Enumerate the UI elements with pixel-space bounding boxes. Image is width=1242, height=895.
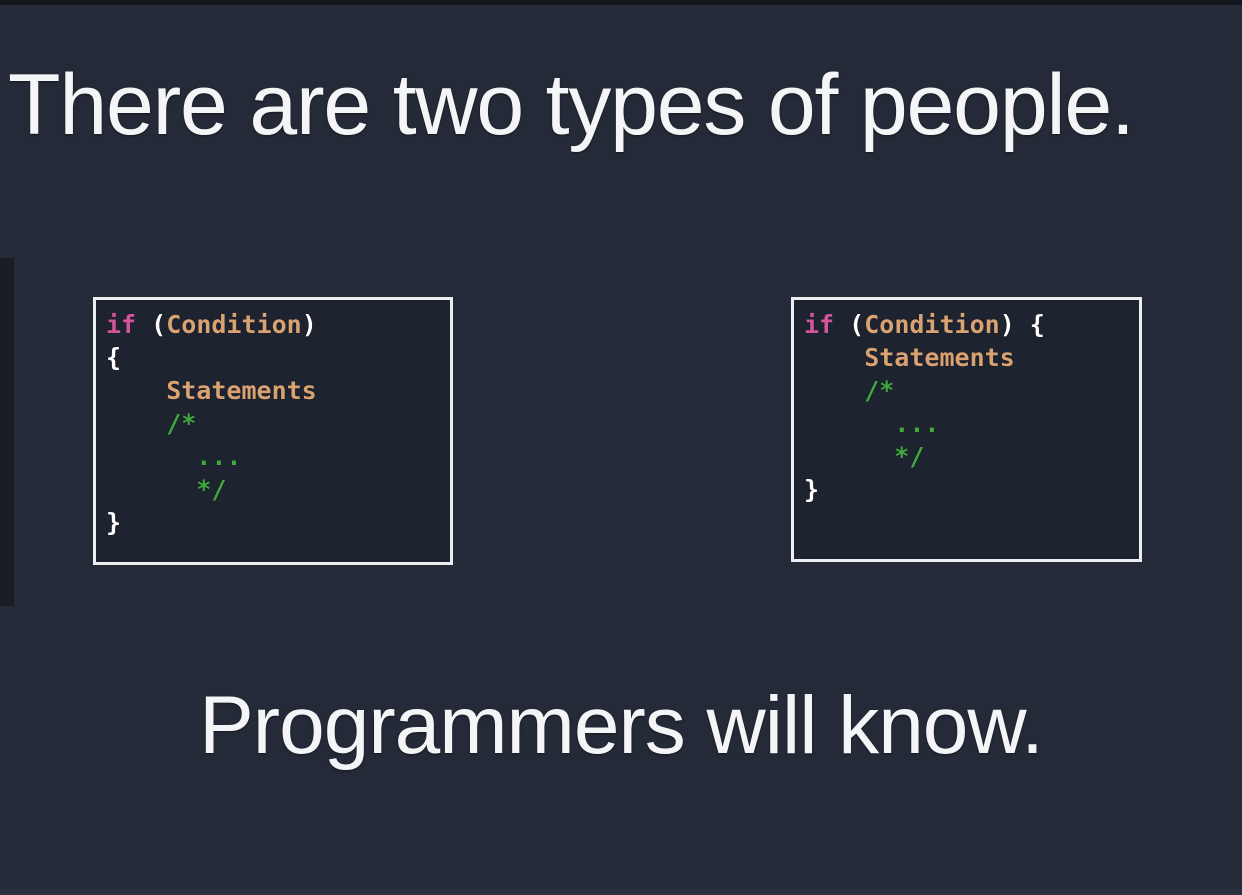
code-token-identifier: Condition (166, 310, 301, 339)
meme-image: There are two types of people. if (Condi… (0, 0, 1242, 895)
code-token-keyword: if (106, 310, 136, 339)
code-token-punctuation: ( (136, 310, 166, 339)
top-edge-band (0, 0, 1242, 5)
headline-text: There are two types of people. (8, 62, 1242, 148)
code-token-comment: */ (804, 442, 924, 471)
code-token-comment: ... (804, 409, 939, 438)
bottom-edge-band (0, 889, 1242, 895)
code-content-knr: if (Condition) { Statements /* ... */ } (804, 308, 1139, 506)
left-edge-artifact-strip (0, 258, 14, 606)
code-token-identifier: Condition (864, 310, 999, 339)
footline-text: Programmers will know. (0, 685, 1242, 767)
code-token-comment: ... (106, 442, 241, 471)
code-token-punctuation: ( (834, 310, 864, 339)
code-token-punctuation: } (804, 475, 819, 504)
code-token-identifier: Statements (106, 376, 317, 405)
code-token-comment: /* (106, 409, 196, 438)
code-token-punctuation: ) { (1000, 310, 1045, 339)
code-token-punctuation: } (106, 508, 121, 537)
code-token-comment: */ (106, 475, 226, 504)
code-token-punctuation: ) (302, 310, 317, 339)
code-token-identifier: Statements (804, 343, 1015, 372)
code-block-knr: if (Condition) { Statements /* ... */ } (791, 297, 1142, 562)
code-token-punctuation: { (106, 343, 121, 372)
code-block-allman: if (Condition) { Statements /* ... */ } (93, 297, 453, 565)
code-token-comment: /* (804, 376, 894, 405)
code-token-keyword: if (804, 310, 834, 339)
code-content-allman: if (Condition) { Statements /* ... */ } (106, 308, 450, 539)
